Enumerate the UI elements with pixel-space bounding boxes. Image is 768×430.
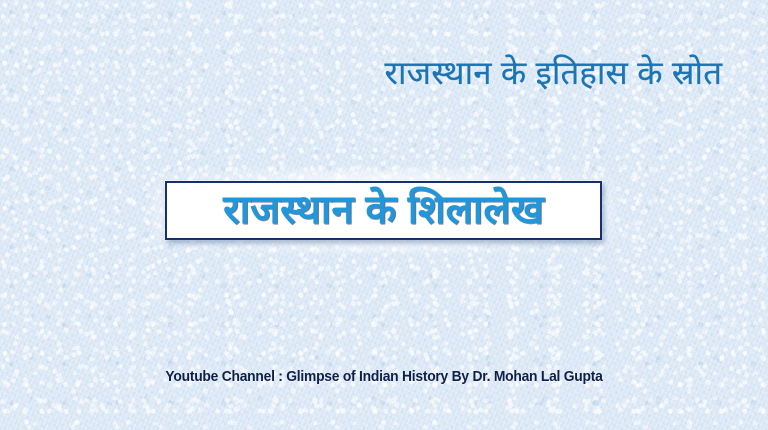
presentation-slide: राजस्थान के इतिहास के स्रोत राजस्थान के … bbox=[0, 0, 768, 430]
title-box-container: राजस्थान के शिलालेख bbox=[165, 181, 602, 240]
title-box-label: राजस्थान के शिलालेख bbox=[223, 190, 544, 232]
title-box: राजस्थान के शिलालेख bbox=[165, 181, 602, 240]
footer-credit: Youtube Channel : Glimpse of Indian Hist… bbox=[17, 369, 750, 385]
slide-heading: राजस्थान के इतिहास के स्रोत bbox=[0, 52, 722, 93]
slide-content: राजस्थान के इतिहास के स्रोत राजस्थान के … bbox=[0, 0, 768, 430]
